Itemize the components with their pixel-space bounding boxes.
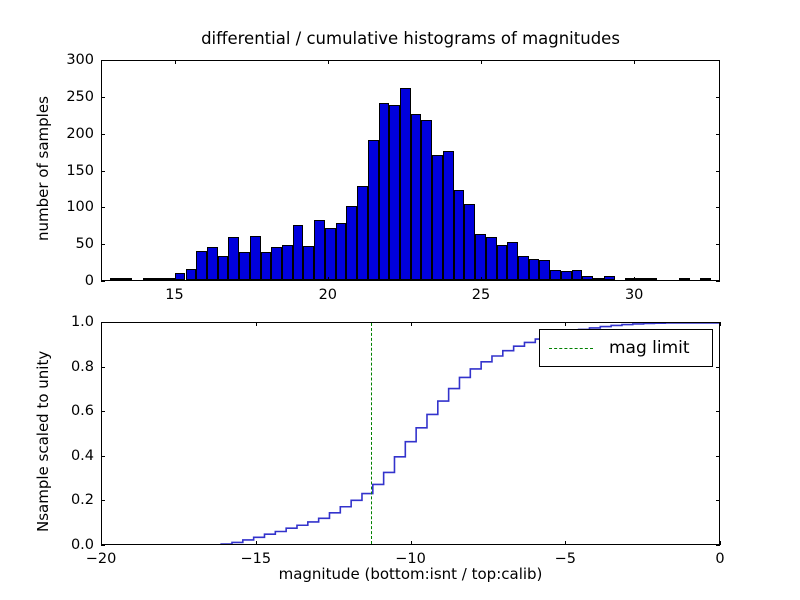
y-tick-label: 0.2	[49, 492, 94, 508]
histogram-bar	[153, 278, 164, 280]
histogram-bar	[518, 256, 529, 280]
histogram-bar	[282, 245, 293, 280]
y-tick-mark	[101, 134, 105, 135]
histogram-bar	[561, 271, 572, 280]
y-tick-mark	[101, 171, 105, 172]
y-tick-mark-right	[716, 207, 720, 208]
x-tick-label: 30	[625, 287, 643, 303]
y-tick-mark	[101, 411, 105, 412]
y-tick-mark-right	[716, 281, 720, 282]
histogram-bar	[207, 247, 218, 280]
bottom-x-axis-label: magnitude (bottom:isnt / top:calib)	[101, 565, 720, 583]
histogram-bar	[497, 245, 508, 280]
legend-box: mag limit	[539, 329, 713, 367]
histogram-bar	[475, 234, 486, 280]
histogram-bar	[218, 256, 229, 280]
histogram-bar	[357, 186, 368, 280]
histogram-bar	[679, 278, 690, 280]
y-tick-label: 200	[49, 126, 94, 142]
histogram-bar	[196, 251, 207, 280]
bottom-y-axis-label: Nsample scaled to unity	[34, 351, 52, 532]
histogram-bar	[143, 278, 154, 280]
histogram-bar	[700, 278, 711, 280]
y-tick-mark-right	[716, 60, 720, 61]
differential-histogram-plot-area	[102, 61, 719, 280]
histogram-bar	[186, 269, 197, 280]
y-tick-mark-right	[716, 411, 720, 412]
mag-limit-vline	[371, 323, 372, 544]
histogram-bar	[593, 278, 604, 280]
histogram-bar	[582, 276, 593, 280]
histogram-bar	[239, 252, 250, 280]
histogram-bar	[164, 278, 175, 280]
histogram-bar	[314, 220, 325, 280]
histogram-bar	[507, 242, 518, 280]
y-tick-mark	[101, 500, 105, 501]
x-tick-label: 15	[165, 287, 183, 303]
y-tick-mark	[101, 545, 105, 546]
x-tick-mark	[720, 541, 721, 545]
histogram-bar	[572, 270, 583, 280]
histogram-bar	[228, 237, 239, 280]
x-tick-mark	[565, 541, 566, 545]
histogram-bar	[604, 276, 615, 280]
legend-label-mag-limit: mag limit	[609, 338, 690, 358]
x-tick-mark	[256, 541, 257, 545]
y-tick-label: 0.6	[49, 403, 94, 419]
x-tick-mark	[411, 541, 412, 545]
histogram-bar	[336, 223, 347, 280]
matplotlib-figure: differential / cumulative histograms of …	[0, 0, 800, 600]
histogram-bar	[647, 278, 658, 280]
y-tick-label: 150	[49, 163, 94, 179]
x-tick-mark-top	[175, 60, 176, 64]
histogram-bar	[411, 114, 422, 280]
y-tick-mark-right	[716, 367, 720, 368]
histogram-bar	[550, 270, 561, 280]
histogram-bar	[293, 225, 304, 280]
y-tick-mark	[101, 367, 105, 368]
histogram-bar	[636, 278, 647, 280]
histogram-bar	[389, 105, 400, 280]
histogram-bar	[250, 236, 261, 280]
y-tick-mark-right	[716, 500, 720, 501]
y-tick-mark	[101, 60, 105, 61]
histogram-bar	[379, 103, 390, 280]
x-tick-mark-top	[720, 322, 721, 326]
histogram-bar	[325, 228, 336, 280]
y-tick-mark-right	[716, 244, 720, 245]
x-tick-mark	[328, 277, 329, 281]
histogram-bar	[421, 120, 432, 280]
histogram-bar	[443, 151, 454, 280]
mag-limit-line-icon	[549, 348, 593, 349]
histogram-bar	[261, 252, 272, 280]
histogram-bar	[175, 273, 186, 280]
x-tick-mark	[175, 277, 176, 281]
histogram-bar	[346, 206, 357, 280]
y-tick-mark-right	[716, 134, 720, 135]
figure-title: differential / cumulative histograms of …	[101, 29, 720, 48]
y-tick-label: 0.4	[49, 448, 94, 464]
histogram-bar	[432, 155, 443, 280]
x-tick-mark-top	[565, 322, 566, 326]
y-tick-mark	[101, 456, 105, 457]
y-tick-label: 0	[49, 273, 94, 289]
y-tick-label: 50	[49, 236, 94, 252]
x-tick-mark-top	[411, 322, 412, 326]
y-tick-label: 1.0	[49, 314, 94, 330]
y-tick-mark	[101, 244, 105, 245]
y-tick-label: 250	[49, 89, 94, 105]
y-tick-label: 300	[49, 52, 94, 68]
y-tick-mark-right	[716, 545, 720, 546]
histogram-bar	[529, 259, 540, 280]
histogram-bar	[464, 204, 475, 280]
histogram-bar	[454, 190, 465, 280]
y-tick-label: 0.8	[49, 359, 94, 375]
x-tick-mark-top	[328, 60, 329, 64]
x-tick-label: 25	[472, 287, 490, 303]
histogram-bar	[271, 247, 282, 280]
histogram-bar	[486, 237, 497, 280]
histogram-bar	[539, 260, 550, 280]
x-tick-mark	[481, 277, 482, 281]
x-tick-mark-top	[634, 60, 635, 64]
histogram-bar	[400, 88, 411, 280]
histogram-bar	[121, 278, 132, 280]
differential-histogram-axes	[101, 60, 720, 281]
histogram-bar	[368, 140, 379, 280]
y-tick-mark	[101, 322, 105, 323]
histogram-bar	[303, 246, 314, 280]
y-tick-mark	[101, 207, 105, 208]
y-tick-mark-right	[716, 171, 720, 172]
y-tick-mark-right	[716, 456, 720, 457]
x-tick-mark	[634, 277, 635, 281]
y-tick-label: 0.0	[49, 537, 94, 553]
x-tick-mark-top	[481, 60, 482, 64]
y-tick-mark	[101, 281, 105, 282]
x-tick-label: 20	[319, 287, 337, 303]
histogram-bar	[110, 278, 121, 280]
y-tick-mark-right	[716, 97, 720, 98]
top-y-axis-label: number of samples	[34, 96, 52, 241]
y-tick-mark-right	[716, 322, 720, 323]
y-tick-label: 100	[49, 199, 94, 215]
y-tick-mark	[101, 97, 105, 98]
x-tick-mark-top	[256, 322, 257, 326]
